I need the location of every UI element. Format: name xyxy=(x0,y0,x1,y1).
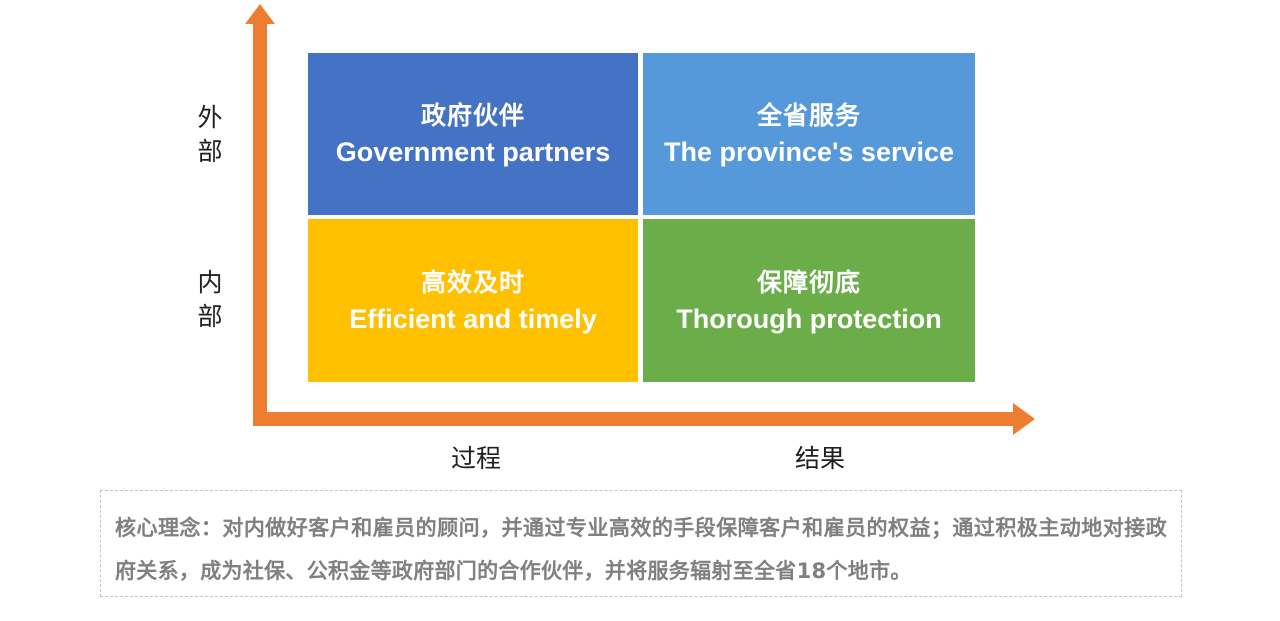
arrow-up-icon xyxy=(245,4,275,24)
axis-label-internal: 内 部 xyxy=(190,266,230,334)
quadrant-government-partners-cn: 政府伙伴 xyxy=(421,98,525,134)
axis-label-external: 外 部 xyxy=(190,101,230,169)
quadrant-government-partners[interactable]: 政府伙伴 Government partners xyxy=(308,53,638,215)
quadrant-thorough-protection[interactable]: 保障彻底 Thorough protection xyxy=(643,219,975,382)
diagram-canvas: 外 部 内 部 过程 结果 政府伙伴 Government partners 全… xyxy=(0,0,1280,621)
axis-label-process: 过程 xyxy=(408,444,544,474)
vertical-axis-line xyxy=(253,22,267,426)
quadrant-province-service[interactable]: 全省服务 The province's service xyxy=(643,53,975,215)
quadrant-efficient-timely-en: Efficient and timely xyxy=(349,301,597,337)
axis-label-external-char-2: 部 xyxy=(190,135,230,169)
axis-label-external-char-1: 外 xyxy=(190,101,230,135)
quadrant-efficient-timely[interactable]: 高效及时 Efficient and timely xyxy=(308,219,638,382)
horizontal-axis-line xyxy=(253,412,1015,426)
arrow-right-icon xyxy=(1013,403,1035,435)
quadrant-efficient-timely-cn: 高效及时 xyxy=(421,265,525,301)
axis-label-internal-char-1: 内 xyxy=(190,266,230,300)
core-concept-text: 核心理念：对内做好客户和雇员的顾问，并通过专业高效的手段保障客户和雇员的权益；通… xyxy=(115,507,1167,593)
core-concept-box: 核心理念：对内做好客户和雇员的顾问，并通过专业高效的手段保障客户和雇员的权益；通… xyxy=(100,490,1182,597)
quadrant-government-partners-en: Government partners xyxy=(336,134,611,170)
quadrant-province-service-en: The province's service xyxy=(664,134,954,170)
quadrant-thorough-protection-cn: 保障彻底 xyxy=(757,265,861,301)
quadrant-province-service-cn: 全省服务 xyxy=(757,98,861,134)
quadrant-thorough-protection-en: Thorough protection xyxy=(676,301,941,337)
axis-label-result: 结果 xyxy=(752,444,888,474)
axis-label-internal-char-2: 部 xyxy=(190,300,230,334)
